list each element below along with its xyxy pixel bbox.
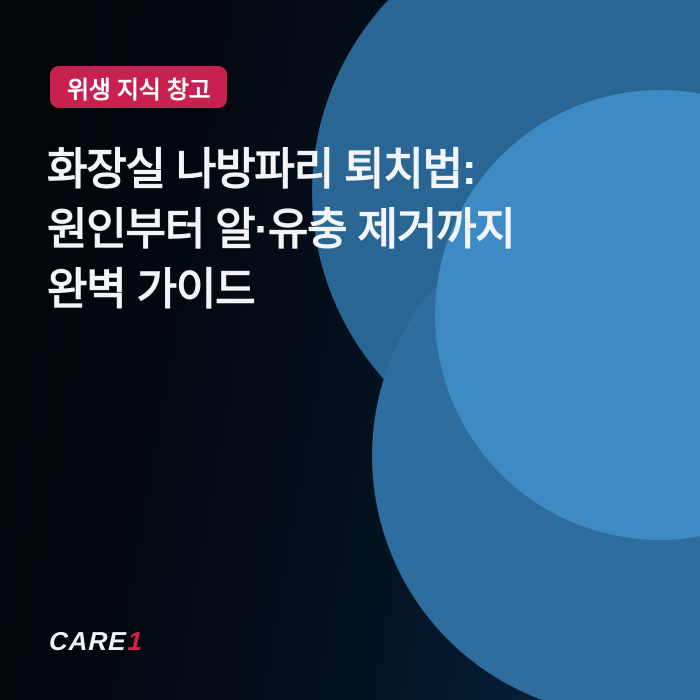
page-title-line-3: 완벽 가이드 (47, 260, 647, 320)
brand-logo-text: CARE (48, 626, 127, 657)
brand-logo: CARE 1 (48, 626, 143, 657)
page-title-line-2: 원인부터 알·유충 제거까지 (47, 200, 647, 260)
brand-logo-accent: 1 (127, 626, 144, 657)
page-title: 화장실 나방파리 퇴치법: 원인부터 알·유충 제거까지 완벽 가이드 (47, 140, 647, 320)
card-content: 위생 지식 창고 화장실 나방파리 퇴치법: 원인부터 알·유충 제거까지 완벽… (0, 0, 700, 700)
promo-card: 위생 지식 창고 화장실 나방파리 퇴치법: 원인부터 알·유충 제거까지 완벽… (0, 0, 700, 700)
page-title-line-1: 화장실 나방파리 퇴치법: (47, 140, 647, 200)
category-badge: 위생 지식 창고 (50, 66, 227, 108)
